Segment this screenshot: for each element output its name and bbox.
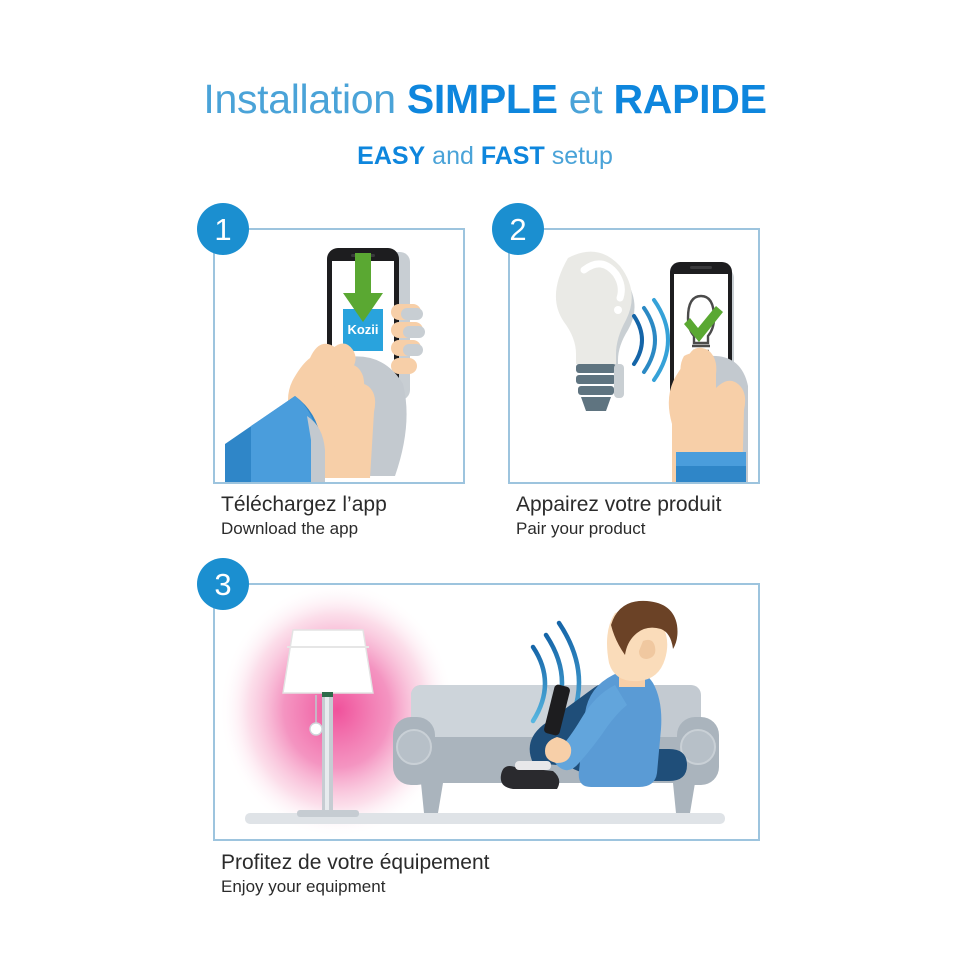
- step-2-illustration: [510, 230, 758, 482]
- step-3-caption-fr: Profitez de votre équipement: [221, 850, 490, 876]
- sleeve-dark: [676, 466, 746, 482]
- title-word-et: et: [558, 76, 614, 122]
- step-caption-3: Profitez de votre équipement Enjoy your …: [221, 850, 490, 898]
- enjoy-equipment-illustration: [215, 585, 758, 839]
- step-1-caption-en: Download the app: [221, 518, 387, 540]
- infographic-page: Installation SIMPLE et RAPIDE EASY and F…: [0, 0, 970, 971]
- step-badge-1-number: 1: [214, 214, 231, 245]
- title-word-installation: Installation: [203, 76, 407, 122]
- subtitle-word-fast: FAST: [481, 142, 545, 170]
- step-2-caption-fr: Appairez votre produit: [516, 492, 721, 518]
- download-app-illustration: Kozii: [215, 230, 463, 482]
- step-badge-2: 2: [492, 203, 544, 255]
- step-1-illustration: Kozii: [215, 230, 463, 482]
- wifi-signal-icon: [634, 300, 668, 380]
- step-badge-3: 3: [197, 558, 249, 610]
- step-caption-1: Téléchargez l’app Download the app: [221, 492, 387, 540]
- title-block: Installation SIMPLE et RAPIDE EASY and F…: [0, 74, 970, 171]
- step-badge-2-number: 2: [509, 214, 526, 245]
- subtitle-word-easy: EASY: [357, 142, 425, 170]
- sock: [515, 761, 551, 770]
- step-3-caption-en: Enjoy your equipment: [221, 876, 490, 898]
- subtitle-word-and: and: [425, 142, 481, 170]
- page-title: Installation SIMPLE et RAPIDE: [0, 74, 970, 124]
- subtitle-word-setup: setup: [545, 142, 613, 170]
- page-subtitle: EASY and FAST setup: [0, 141, 970, 171]
- title-word-rapide: RAPIDE: [614, 76, 767, 122]
- step-badge-1: 1: [197, 203, 249, 255]
- pair-product-illustration: [510, 230, 758, 482]
- step-caption-2: Appairez votre produit Pair your product: [516, 492, 721, 540]
- step-panel-1: Kozii: [213, 228, 465, 484]
- step-1-caption-fr: Téléchargez l’app: [221, 492, 387, 518]
- step-3-illustration: [215, 585, 758, 839]
- phone-speaker: [690, 266, 712, 269]
- step-panel-3: [213, 583, 760, 841]
- step-2-caption-en: Pair your product: [516, 518, 721, 540]
- bulb-base-icon: [576, 364, 624, 411]
- title-word-simple: SIMPLE: [407, 76, 558, 122]
- step-badge-3-number: 3: [214, 569, 231, 600]
- step-panel-2: [508, 228, 760, 484]
- lightbulb-icon: [556, 252, 632, 364]
- app-logo-text: Kozii: [347, 322, 378, 337]
